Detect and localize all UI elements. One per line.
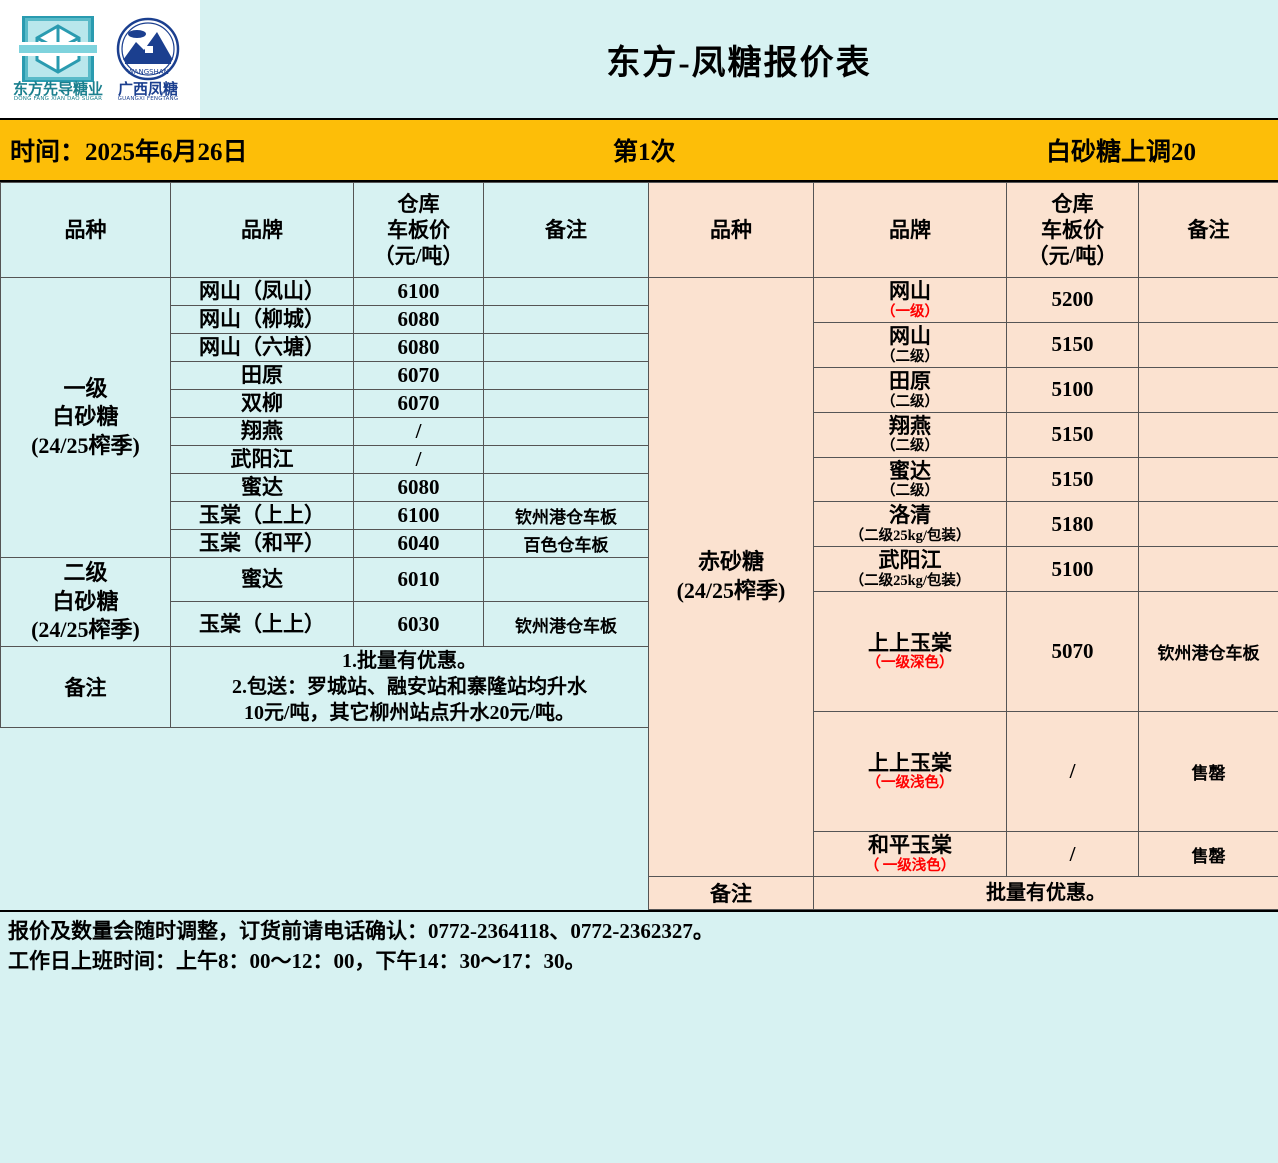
cell-brand-name: 网山 — [889, 279, 931, 303]
cell-brand: 蜜达 （二级） — [814, 457, 1007, 502]
cell-brand-name: 洛清 — [889, 503, 931, 527]
cell-remark — [484, 390, 649, 418]
cell-remark — [484, 278, 649, 306]
col-variety: 品种 — [649, 183, 814, 278]
col-price-line3: （元/吨） — [356, 243, 481, 269]
cell-brand-sub: （一级深色） — [816, 655, 1004, 672]
logo-dongfang: 东方先导糖业 DONG FANG XIAN DAO SUGAR — [13, 16, 103, 103]
quote-sequence: 第1次 — [613, 132, 676, 168]
col-price-line2: 车板价 — [1009, 217, 1136, 243]
cell-brand-name: 武阳江 — [879, 548, 942, 572]
category-line3: (24/25榨季) — [3, 432, 168, 461]
cell-price: 6030 — [354, 602, 484, 646]
cell-brand: 武阳江 （二级25kg/包装） — [814, 547, 1007, 592]
cell-price: 5070 — [1007, 592, 1139, 712]
category-brown-sugar: 赤砂糖 (24/25榨季) — [649, 278, 814, 877]
logo-fengtang-label: 广西凤糖 — [118, 82, 178, 97]
cell-brand: 田原 — [171, 362, 354, 390]
category-grade1-white-sugar: 一级 白砂糖 (24/25榨季) — [1, 278, 171, 558]
col-brand: 品牌 — [814, 183, 1007, 278]
cell-remark: 售罄 — [1139, 832, 1278, 877]
cell-remark — [1139, 502, 1278, 547]
cell-price: 6100 — [354, 502, 484, 530]
logo-fengtang: WANGSHAN 广西凤糖 GUANGXI FENGTANG — [109, 16, 187, 103]
logo-dongfang-en: DONG FANG XIAN DAO SUGAR — [14, 97, 102, 103]
footer-line-1: 报价及数量会随时调整，订货前请电话确认：0772-2364118、0772-23… — [8, 917, 1270, 947]
cell-brand-sub: （ 一级浅色） — [816, 858, 1004, 875]
cell-brand: 蜜达 — [171, 558, 354, 602]
right-remark-body: 批量有优惠。 — [814, 877, 1278, 910]
cell-remark — [484, 334, 649, 362]
cell-brand: 玉棠（上上） — [171, 502, 354, 530]
footer-notes: 报价及数量会随时调整，订货前请电话确认：0772-2364118、0772-23… — [0, 910, 1278, 986]
cell-brand-sub: （二级25kg/包装） — [816, 573, 1004, 590]
cell-brand-sub: （二级） — [816, 394, 1004, 411]
cell-price: 5100 — [1007, 367, 1139, 412]
cell-remark — [484, 558, 649, 602]
col-brand: 品牌 — [171, 183, 354, 278]
cell-price: 5150 — [1007, 457, 1139, 502]
quote-date: 时间：2025年6月26日 — [10, 132, 248, 168]
col-price: 仓库 车板价 （元/吨） — [1007, 183, 1139, 278]
col-remark: 备注 — [1139, 183, 1278, 278]
cell-remark: 钦州港仓车板 — [1139, 592, 1278, 712]
category-line2: (24/25榨季) — [651, 577, 811, 606]
cell-remark — [1139, 547, 1278, 592]
cell-brand-sub: （一级浅色） — [816, 775, 1004, 792]
cell-price: 5150 — [1007, 322, 1139, 367]
cell-brand-sub: （二级） — [816, 349, 1004, 366]
price-quote-sheet: 东方先导糖业 DONG FANG XIAN DAO SUGAR WANGSHAN… — [0, 0, 1278, 1163]
cell-remark — [484, 418, 649, 446]
cell-remark: 百色仓车板 — [484, 530, 649, 558]
cell-brand: 网山 （二级） — [814, 322, 1007, 367]
document-header: 东方先导糖业 DONG FANG XIAN DAO SUGAR WANGSHAN… — [0, 0, 1278, 120]
cell-brand: 和平玉棠 （ 一级浅色） — [814, 832, 1007, 877]
dongfang-logo-icon — [19, 16, 97, 82]
col-remark: 备注 — [484, 183, 649, 278]
cell-price: 6080 — [354, 334, 484, 362]
cell-price: 6070 — [354, 390, 484, 418]
cell-remark — [1139, 457, 1278, 502]
cell-price: 5200 — [1007, 278, 1139, 323]
cell-brand: 田原 （二级） — [814, 367, 1007, 412]
cell-brand-name: 田原 — [889, 369, 931, 393]
cell-price: 6040 — [354, 530, 484, 558]
cell-brand: 网山（六塘） — [171, 334, 354, 362]
cell-brand: 双柳 — [171, 390, 354, 418]
cell-brand: 玉棠（上上） — [171, 602, 354, 646]
col-price-line3: （元/吨） — [1009, 243, 1136, 269]
cell-brand: 上上玉棠 （一级深色） — [814, 592, 1007, 712]
table-row: 二级 白砂糖 (24/25榨季) 蜜达 6010 — [1, 558, 649, 602]
cell-brand-name: 上上玉棠 — [868, 631, 952, 655]
brown-sugar-table: 品种 品牌 仓库 车板价 （元/吨） 备注 赤砂糖 (24/25榨季) — [648, 182, 1278, 910]
wangshan-seal-icon: WANGSHAN — [109, 16, 187, 82]
left-remark-label: 备注 — [1, 646, 171, 727]
cell-brand: 洛清 （二级25kg/包装） — [814, 502, 1007, 547]
left-table-panel: 品种 品牌 仓库 车板价 （元/吨） 备注 一级 白砂糖 — [0, 182, 648, 910]
cell-brand: 网山（柳城） — [171, 306, 354, 334]
cell-price: 6080 — [354, 306, 484, 334]
logo-dongfang-label: 东方先导糖业 — [13, 82, 103, 97]
table-row: 一级 白砂糖 (24/25榨季) 网山（凤山） 6100 — [1, 278, 649, 306]
category-line3: (24/25榨季) — [3, 616, 168, 645]
cell-remark — [484, 446, 649, 474]
cell-price: 6100 — [354, 278, 484, 306]
status-banner: 时间：2025年6月26日 第1次 白砂糖上调20 — [0, 120, 1278, 182]
cell-price: 5180 — [1007, 502, 1139, 547]
cell-brand: 上上玉棠 （一级浅色） — [814, 712, 1007, 832]
cell-price: / — [354, 418, 484, 446]
cell-price: 6080 — [354, 474, 484, 502]
logo-fengtang-en: GUANGXI FENGTANG — [118, 97, 179, 103]
col-variety: 品种 — [1, 183, 171, 278]
cell-brand: 武阳江 — [171, 446, 354, 474]
title-container: 东方-凤糖报价表 — [200, 0, 1278, 118]
cell-brand-name: 翔燕 — [889, 414, 931, 438]
cell-brand-name: 上上玉棠 — [868, 751, 952, 775]
cell-remark: 售罄 — [1139, 712, 1278, 832]
cell-remark: 钦州港仓车板 — [484, 602, 649, 646]
cell-remark — [484, 474, 649, 502]
col-price-line1: 仓库 — [1009, 191, 1136, 217]
cell-price: 5150 — [1007, 412, 1139, 457]
cell-brand-name: 蜜达 — [889, 459, 931, 483]
cell-brand: 玉棠（和平） — [171, 530, 354, 558]
cell-brand: 翔燕 （二级） — [814, 412, 1007, 457]
cell-brand: 蜜达 — [171, 474, 354, 502]
page-title: 东方-凤糖报价表 — [606, 35, 871, 84]
cell-remark — [1139, 322, 1278, 367]
cell-remark — [484, 362, 649, 390]
cell-remark — [484, 306, 649, 334]
right-remark-label: 备注 — [649, 877, 814, 910]
cell-price: / — [354, 446, 484, 474]
cell-price: 5100 — [1007, 547, 1139, 592]
tables-container: 品种 品牌 仓库 车板价 （元/吨） 备注 一级 白砂糖 — [0, 182, 1278, 910]
cell-remark — [1139, 367, 1278, 412]
footer-line-2: 工作日上班时间：上午8：00～12：00，下午14：30～17：30。 — [8, 947, 1270, 977]
price-adjustment: 白砂糖上调20 — [1046, 132, 1196, 168]
cell-brand-sub: （二级25kg/包装） — [816, 528, 1004, 545]
cell-remark — [1139, 278, 1278, 323]
cell-price: / — [1007, 832, 1139, 877]
col-price-line2: 车板价 — [356, 217, 481, 243]
cell-brand-sub: （二级） — [816, 483, 1004, 500]
category-grade2-white-sugar: 二级 白砂糖 (24/25榨季) — [1, 558, 171, 647]
cell-brand-sub: （二级） — [816, 438, 1004, 455]
cell-brand: 网山 （一级） — [814, 278, 1007, 323]
category-line1: 赤砂糖 — [651, 548, 811, 577]
company-logos: 东方先导糖业 DONG FANG XIAN DAO SUGAR WANGSHAN… — [0, 0, 200, 118]
table-header-row: 品种 品牌 仓库 车板价 （元/吨） 备注 — [649, 183, 1278, 278]
right-table-panel: 品种 品牌 仓库 车板价 （元/吨） 备注 赤砂糖 (24/25榨季) — [648, 182, 1278, 910]
cell-price: 6070 — [354, 362, 484, 390]
left-remark-line3: 10元/吨，其它柳州站点升水20元/吨。 — [173, 700, 646, 726]
category-line1: 二级 — [3, 559, 168, 588]
table-row: 赤砂糖 (24/25榨季) 网山 （一级） 5200 — [649, 278, 1278, 323]
cell-brand: 网山（凤山） — [171, 278, 354, 306]
cell-brand-name: 和平玉棠 — [868, 833, 952, 857]
cell-brand-name: 网山 — [889, 324, 931, 348]
white-sugar-table: 品种 品牌 仓库 车板价 （元/吨） 备注 一级 白砂糖 — [0, 182, 649, 728]
cell-remark: 钦州港仓车板 — [484, 502, 649, 530]
svg-text:WANGSHAN: WANGSHAN — [127, 68, 169, 76]
right-remark-line1: 批量有优惠。 — [816, 880, 1276, 906]
left-remark-line1: 1.批量有优惠。 — [173, 648, 646, 674]
col-price: 仓库 车板价 （元/吨） — [354, 183, 484, 278]
table-header-row: 品种 品牌 仓库 车板价 （元/吨） 备注 — [1, 183, 649, 278]
left-remark-line2: 2.包送：罗城站、融安站和寨隆站均升水 — [173, 674, 646, 700]
cell-brand: 翔燕 — [171, 418, 354, 446]
cell-remark — [1139, 412, 1278, 457]
cell-price: / — [1007, 712, 1139, 832]
remark-row: 备注 1.批量有优惠。 2.包送：罗城站、融安站和寨隆站均升水 10元/吨，其它… — [1, 646, 649, 727]
category-line1: 一级 — [3, 375, 168, 404]
cell-price: 6010 — [354, 558, 484, 602]
cell-brand-sub: （一级） — [816, 304, 1004, 321]
category-line2: 白砂糖 — [3, 588, 168, 617]
col-price-line1: 仓库 — [356, 191, 481, 217]
left-remark-body: 1.批量有优惠。 2.包送：罗城站、融安站和寨隆站均升水 10元/吨，其它柳州站… — [171, 646, 649, 727]
remark-row: 备注 批量有优惠。 — [649, 877, 1278, 910]
category-line2: 白砂糖 — [3, 403, 168, 432]
